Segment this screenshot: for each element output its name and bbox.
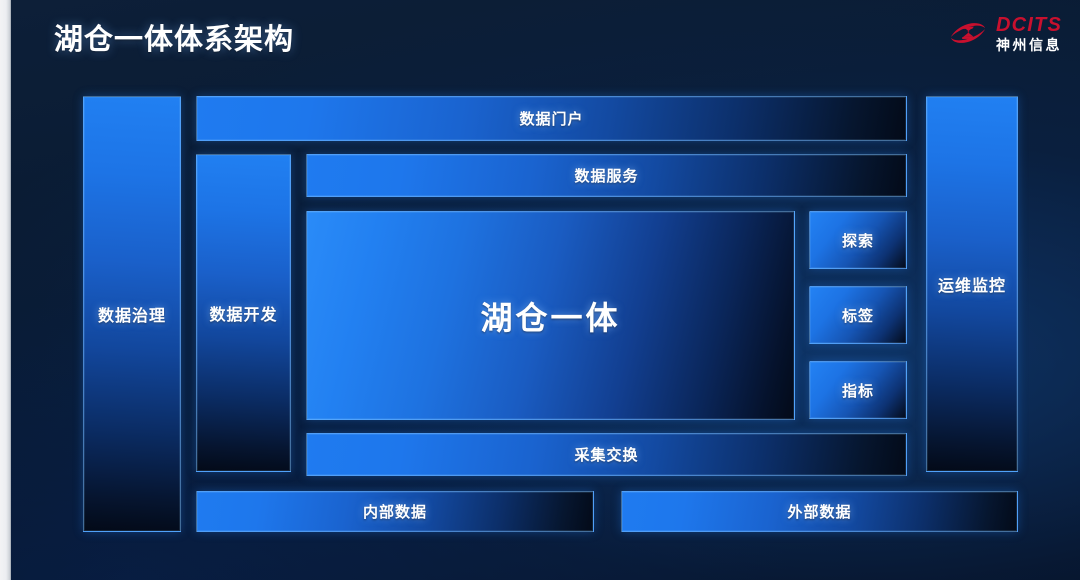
tile-explore[interactable]: 探索	[809, 211, 907, 269]
layer-data-portal[interactable]: 数据门户	[196, 96, 907, 141]
swirl-logo-icon	[947, 17, 989, 49]
slide-canvas: 湖仓一体体系架构 DCITS 神州信息 数据治理 数据开发 运维监控 数据门户 …	[0, 0, 1080, 580]
logo-chinese: 神州信息	[996, 38, 1062, 52]
layer-collect-exchange-label: 采集交换	[574, 444, 638, 465]
pillar-data-governance-label: 数据治理	[98, 302, 166, 326]
layer-lakehouse-core[interactable]: 湖仓一体	[306, 211, 795, 420]
tile-metric[interactable]: 指标	[809, 361, 907, 419]
source-external-data-label: 外部数据	[787, 501, 851, 522]
tile-tag[interactable]: 标签	[809, 286, 907, 344]
layer-data-service[interactable]: 数据服务	[306, 154, 907, 197]
source-internal-data-label: 内部数据	[363, 501, 427, 522]
page-title: 湖仓一体体系架构	[54, 16, 294, 58]
pillar-data-development[interactable]: 数据开发	[196, 154, 291, 472]
source-external-data[interactable]: 外部数据	[621, 491, 1018, 532]
layer-lakehouse-core-label: 湖仓一体	[480, 293, 620, 339]
layer-data-service-label: 数据服务	[574, 165, 638, 186]
pillar-ops-monitoring[interactable]: 运维监控	[926, 96, 1018, 472]
tile-metric-label: 指标	[842, 380, 874, 401]
layer-data-portal-label: 数据门户	[519, 108, 583, 129]
pillar-ops-monitoring-label: 运维监控	[938, 272, 1006, 296]
source-internal-data[interactable]: 内部数据	[196, 491, 594, 532]
brand-logo: DCITS 神州信息	[947, 10, 1062, 56]
pillar-data-governance[interactable]: 数据治理	[83, 96, 181, 532]
slide-left-edge-strip	[0, 0, 11, 580]
layer-collect-exchange[interactable]: 采集交换	[306, 433, 907, 476]
logo-text: DCITS 神州信息	[996, 15, 1062, 52]
tile-explore-label: 探索	[842, 230, 874, 251]
tile-tag-label: 标签	[842, 305, 874, 326]
pillar-data-development-label: 数据开发	[209, 301, 277, 325]
logo-english: DCITS	[996, 15, 1062, 35]
